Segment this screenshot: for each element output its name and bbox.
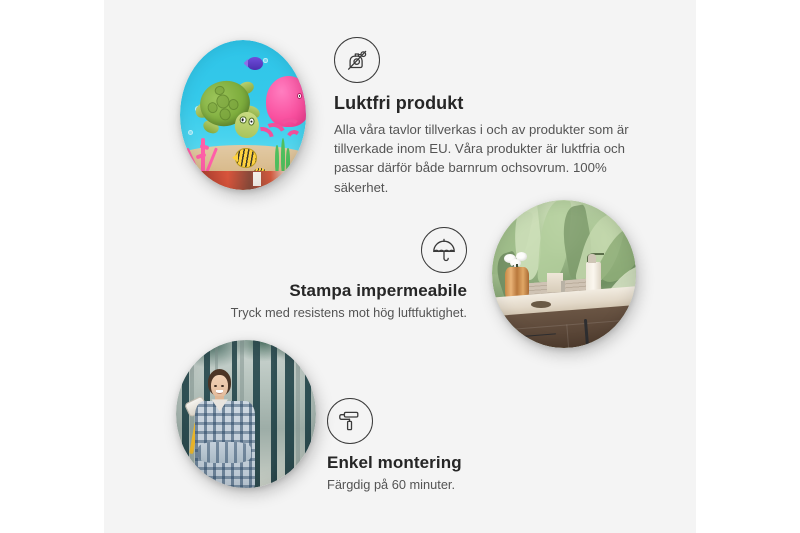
- feature-title: Enkel montering: [327, 452, 587, 473]
- feature-title: Stampa impermeabile: [215, 280, 467, 301]
- umbrella-icon: [421, 227, 467, 273]
- paint-roller-icon: [327, 398, 373, 444]
- feature-easy-mount: Enkel montering Färgdig på 60 minuter.: [327, 398, 587, 495]
- feature-waterproof: Stampa impermeabile Tryck med resistens …: [215, 227, 467, 323]
- feature-description: Tryck med resistens mot hög luftfuktighe…: [215, 304, 467, 323]
- bathroom-tropical-wallpaper-photo: [492, 200, 636, 348]
- feature-showcase-page: Luktfri produkt Alla våra tavlor tillver…: [0, 0, 800, 533]
- no-odor-perfume-icon: [334, 37, 380, 83]
- feature-odorless: Luktfri produkt Alla våra tavlor tillver…: [334, 37, 634, 197]
- forest-mural-installer-photo: [176, 340, 316, 488]
- underwater-cartoon-wallpaper-photo: [180, 40, 306, 190]
- feature-description: Färgdig på 60 minuter.: [327, 476, 587, 495]
- feature-title: Luktfri produkt: [334, 92, 634, 115]
- feature-description: Alla våra tavlor tillverkas i och av pro…: [334, 120, 634, 198]
